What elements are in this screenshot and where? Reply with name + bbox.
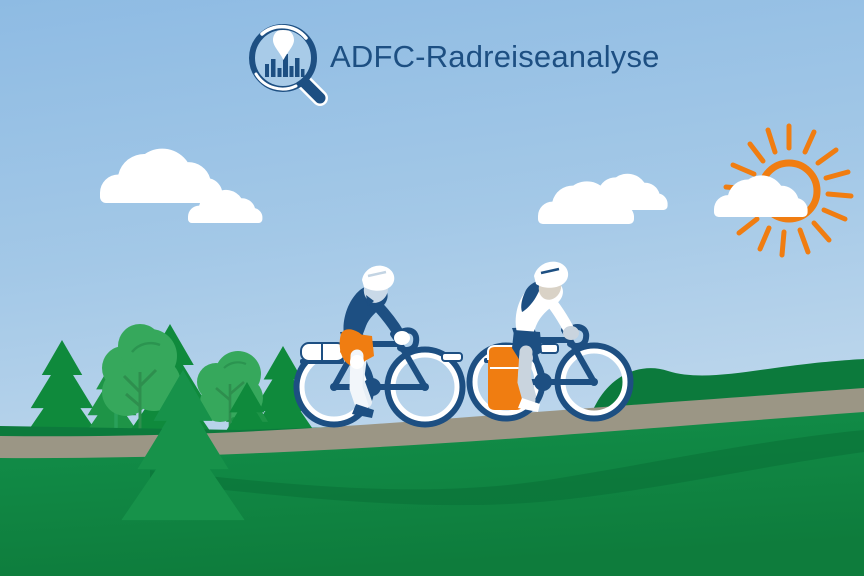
rider-right-knee (519, 351, 533, 365)
bike-right-front-rack (540, 344, 558, 353)
bike-left-front-rack (442, 353, 462, 361)
scene-svg (0, 0, 864, 576)
rider-left-glove (394, 331, 410, 345)
rider-left-knee (350, 355, 364, 369)
page-title: ADFC-Radreiseanalyse (330, 39, 660, 75)
bike-left-rack-bag (301, 343, 345, 361)
bike-right-chainring (534, 373, 552, 391)
illustration-canvas: ADFC-Radreiseanalyse (0, 0, 864, 576)
rider-right-glove (563, 326, 579, 340)
